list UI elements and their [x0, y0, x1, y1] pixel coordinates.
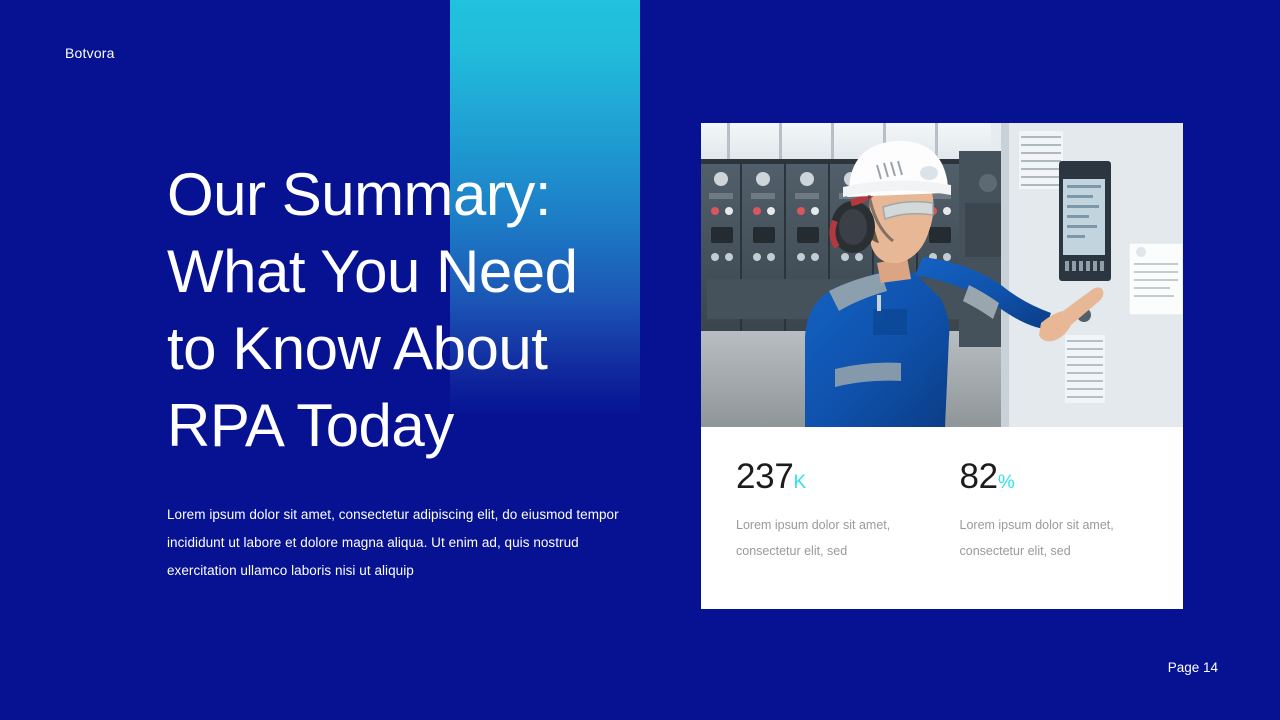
page-title: Our Summary: What You Need to Know About… [167, 156, 637, 464]
stat-caption: Lorem ipsum dolor sit amet, consectetur … [736, 512, 936, 564]
stat-caption: Lorem ipsum dolor sit amet, consectetur … [960, 512, 1160, 564]
stat-item: 237K Lorem ipsum dolor sit amet, consect… [736, 458, 960, 609]
summary-card: 237K Lorem ipsum dolor sit amet, consect… [701, 123, 1183, 609]
stat-value: 237K [736, 458, 960, 502]
page-number: Page 14 [1168, 660, 1218, 675]
stat-value: 82% [960, 458, 1184, 502]
photo-illustration [701, 123, 1183, 427]
stat-number: 237 [736, 457, 794, 496]
brand-logo: Botvora [65, 45, 115, 61]
slide: Botvora Our Summary: What You Need to Kn… [0, 0, 1280, 720]
stat-suffix: K [794, 472, 807, 493]
stat-item: 82% Lorem ipsum dolor sit amet, consecte… [960, 458, 1184, 609]
body-paragraph: Lorem ipsum dolor sit amet, consectetur … [167, 501, 647, 585]
stat-number: 82 [960, 457, 998, 496]
stat-suffix: % [998, 472, 1015, 493]
stats-row: 237K Lorem ipsum dolor sit amet, consect… [701, 427, 1183, 609]
industrial-worker-photo [701, 123, 1183, 427]
